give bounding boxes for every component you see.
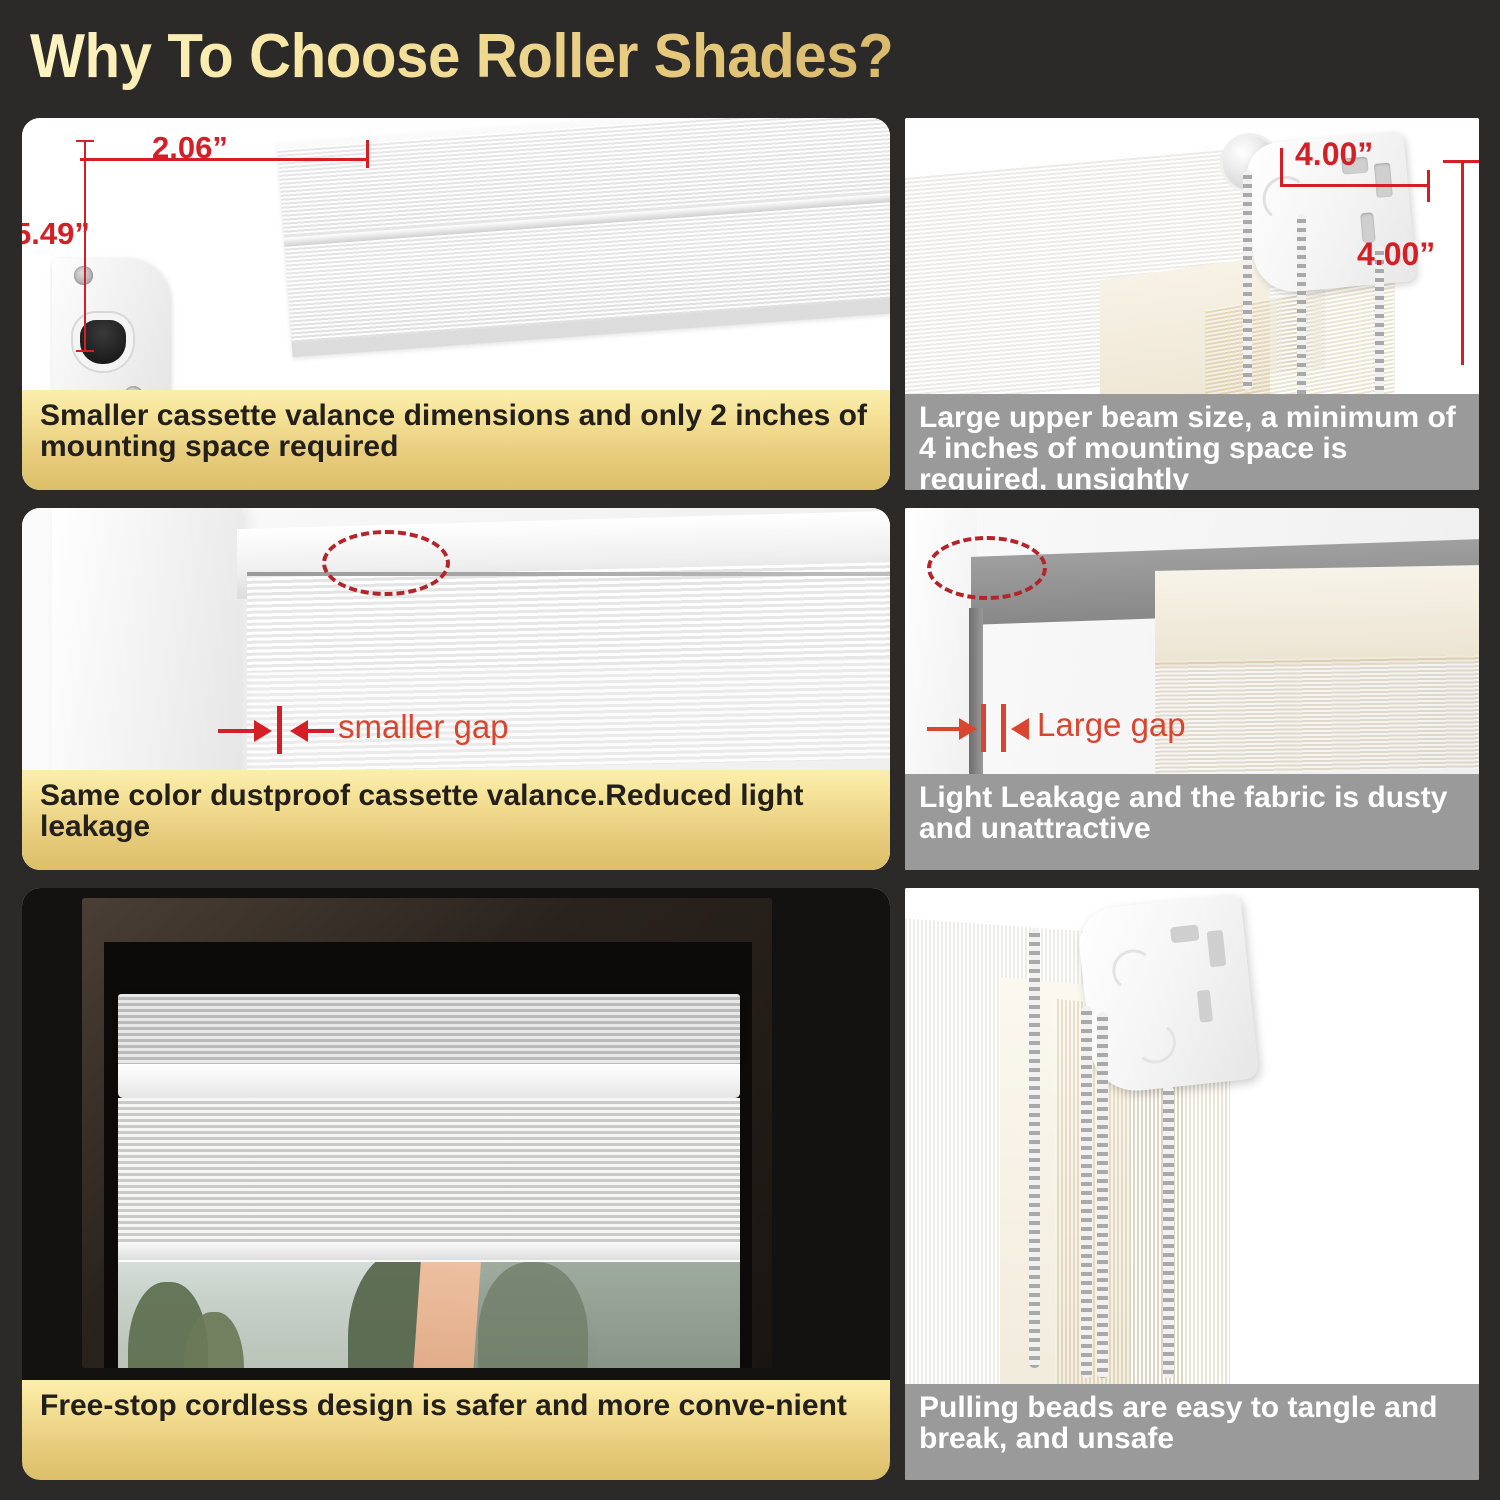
dim-tick-right (366, 140, 369, 168)
highlight-circle (927, 536, 1047, 600)
gap-arrow-shaft-right (308, 729, 334, 733)
panel-dustproof-valance: smaller gap Same color dustproof cassett… (22, 508, 890, 870)
caption-panel-3-left: Free-stop cordless design is safer and m… (22, 1380, 890, 1480)
bottom-rail (118, 1242, 740, 1260)
width-dimension-label: 4.00” (1295, 136, 1373, 173)
gap-arrow-shaft-left (218, 729, 258, 733)
bead-chain (1081, 1006, 1092, 1378)
height-dimension-label: 4.00” (1357, 236, 1435, 273)
dim-vertical-axis (1461, 160, 1464, 365)
dim-horizontal-axis (1280, 184, 1430, 187)
bead-chain (1243, 170, 1252, 390)
gap-marker (1001, 704, 1006, 752)
cassette-valance (118, 994, 740, 1066)
roller-slot-icon (80, 320, 126, 364)
caption-panel-1-right: Large upper beam size, a minimum of 4 in… (905, 394, 1479, 490)
khaki-fabric (1155, 655, 1479, 775)
bracket-arc-icon (1110, 947, 1156, 993)
bead-chain (1097, 1012, 1108, 1378)
dim-tick-top (76, 140, 94, 142)
bead-chain (1029, 928, 1040, 1368)
width-dimension-label: 2.06” (152, 130, 228, 166)
dim-tick-bottom (76, 350, 94, 352)
panel-large-upper-beam: 4.00” 4.00” Large upper beam size, a min… (905, 118, 1479, 490)
shade-fabric (118, 1098, 740, 1262)
caption-panel-2-right: Light Leakage and the fabric is dusty an… (905, 774, 1479, 870)
gap-arrow-head-right (1011, 718, 1029, 740)
dim-tick-left (1280, 148, 1283, 184)
caption-panel-3-right: Pulling beads are easy to tangle and bre… (905, 1384, 1479, 1480)
gap-label: smaller gap (338, 708, 509, 746)
caption-panel-1-left: Smaller cassette valance dimensions and … (22, 390, 890, 490)
highlight-circle (322, 530, 450, 596)
valance-lip (118, 1064, 740, 1098)
comparison-grid: 5.49” 2.06” Smaller cassette valance dim… (0, 0, 1500, 1500)
bead-chain (1163, 1086, 1174, 1378)
window-frame (82, 898, 772, 1368)
gap-marker (277, 706, 282, 754)
panel-pulling-beads: Pulling beads are easy to tangle and bre… (905, 888, 1479, 1480)
panel-light-leakage: Large gap Light Leakage and the fabric i… (905, 508, 1479, 870)
upper-fabric (1155, 565, 1479, 667)
gap-arrow-head-left (959, 718, 977, 740)
gap-label: Large gap (1037, 706, 1186, 744)
bracket-arc-icon (1132, 1019, 1178, 1065)
gap-marker (981, 704, 986, 752)
gap-arrow-shaft-left (927, 727, 963, 731)
height-dimension-label: 5.49” (22, 216, 90, 252)
panel-smaller-cassette: 5.49” 2.06” Smaller cassette valance dim… (22, 118, 890, 490)
caption-panel-2-left: Same color dustproof cassette valance.Re… (22, 770, 890, 870)
gap-arrow-head-left (254, 720, 272, 742)
bead-chain (1297, 214, 1306, 399)
dim-tick-right (1427, 170, 1430, 202)
panel-cordless-design: Free-stop cordless design is safer and m… (22, 888, 890, 1480)
gap-arrow-head-right (290, 720, 308, 742)
